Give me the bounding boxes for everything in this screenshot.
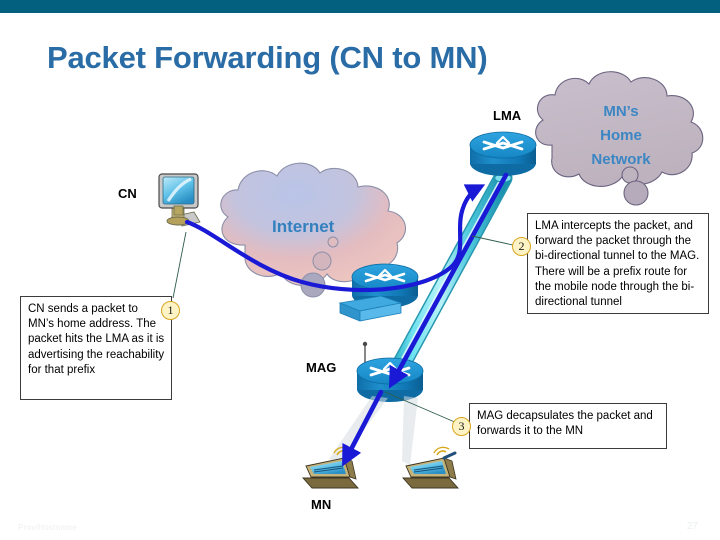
node-label-mn: MN: [311, 497, 331, 512]
node-label-cn: CN: [118, 186, 137, 201]
packet-path-mag-to-mn: [345, 392, 381, 461]
callout-box-2: LMA intercepts the packet, and forward t…: [527, 213, 709, 314]
page-number: 27: [687, 521, 698, 532]
callout-number-1: 1: [161, 301, 180, 320]
slide-canvas: Packet Forwarding (CN to MN): [0, 0, 720, 540]
callout-number-2: 2: [512, 237, 531, 256]
desktop-computer-icon: [159, 174, 200, 226]
lma-router-icon: [470, 132, 536, 176]
callout-text-3: MAG decapsulates the packet and forwards…: [477, 410, 653, 437]
callout-text-2: LMA intercepts the packet, and forward t…: [535, 220, 699, 308]
internet-switch-icon: [340, 296, 401, 321]
home-network-cloud: [536, 72, 703, 205]
callout-number-3: 3: [452, 417, 471, 436]
callout-box-1: CN sends a packet to MN’s home address. …: [20, 296, 172, 400]
callout-text-1: CN sends a packet to MN’s home address. …: [28, 303, 164, 376]
footer-text: Prov/Hostname: [18, 523, 77, 532]
node-label-mag: MAG: [306, 360, 336, 375]
callout-box-3: MAG decapsulates the packet and forwards…: [469, 403, 667, 449]
node-label-lma: LMA: [493, 108, 521, 123]
